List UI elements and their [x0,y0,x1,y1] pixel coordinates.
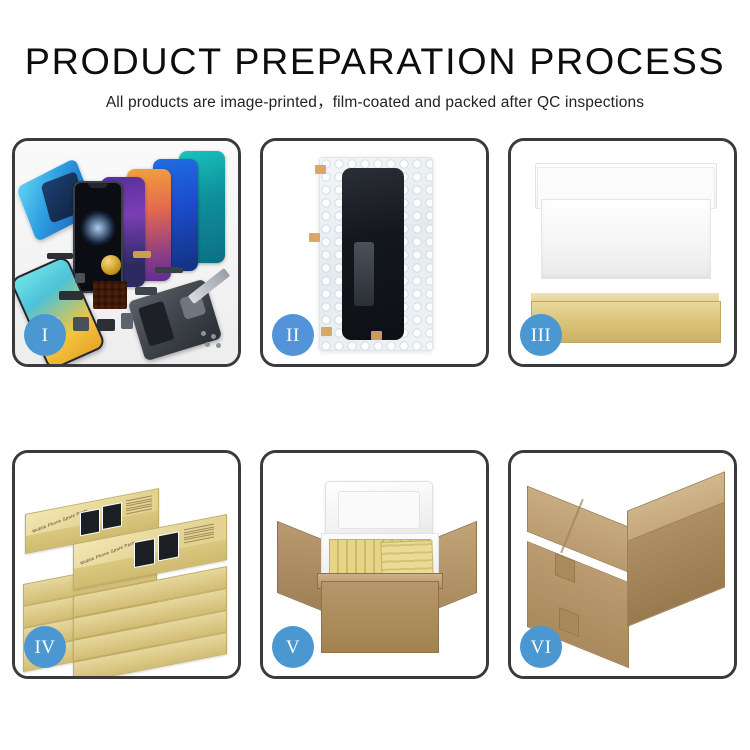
step-badge-4: IV [24,626,66,668]
spare-part [121,313,133,329]
box-print-thumbnail [102,502,122,530]
step-numeral: III [531,326,551,345]
process-step-grid: I II [12,138,738,683]
spare-part [47,253,73,259]
screws-group [201,331,223,349]
sealed-shipping-carton [527,479,723,651]
process-step-6: VI [508,450,737,679]
step-badge-1: I [24,314,66,356]
spare-part [155,267,183,273]
styrofoam-lid [325,481,433,539]
spare-part [135,287,157,295]
tape-piece [371,331,382,340]
spare-part [59,291,83,300]
spare-part [73,317,89,331]
page-subtitle: All products are image-printed，film-coat… [0,84,750,113]
spare-part [133,251,151,258]
connector-grid-part [93,281,127,309]
tape-piece [315,165,326,174]
tape-piece [309,233,320,242]
step-numeral: VI [530,638,551,657]
page-title: PRODUCT PREPARATION PROCESS [0,0,750,84]
step-numeral: V [286,638,300,657]
step-badge-2: II [272,314,314,356]
gold-coil-part [101,255,121,275]
phone-screen-fan [71,151,238,281]
header: PRODUCT PREPARATION PROCESS All products… [0,0,750,113]
carton-body [321,581,439,653]
step-badge-6: VI [520,626,562,668]
process-step-4: Mobile Phone Spare Parts Mobile Phone Sp… [12,450,241,679]
bubble-wrap-bag [319,157,433,351]
process-step-5: V [260,450,489,679]
white-foam-sheet [541,199,711,279]
open-shipping-carton [277,477,477,655]
process-step-2: II [260,138,489,367]
spare-part [75,273,85,283]
box-print-thumbnail [134,538,155,568]
product-preparation-infographic: PRODUCT PREPARATION PROCESS All products… [0,0,750,750]
step-badge-5: V [272,626,314,668]
step-numeral: II [286,326,300,345]
tape-piece [321,327,332,336]
open-kraft-box [531,161,719,341]
wrapped-screen-assembly [342,168,404,340]
process-step-3: III [508,138,737,367]
box-print-thumbnail [80,508,100,536]
spare-part [97,319,115,331]
step-numeral: IV [34,638,55,657]
process-step-1: I [12,138,241,367]
step-numeral: I [42,326,49,345]
box-print-thumbnail [158,531,179,561]
step-badge-3: III [520,314,562,356]
